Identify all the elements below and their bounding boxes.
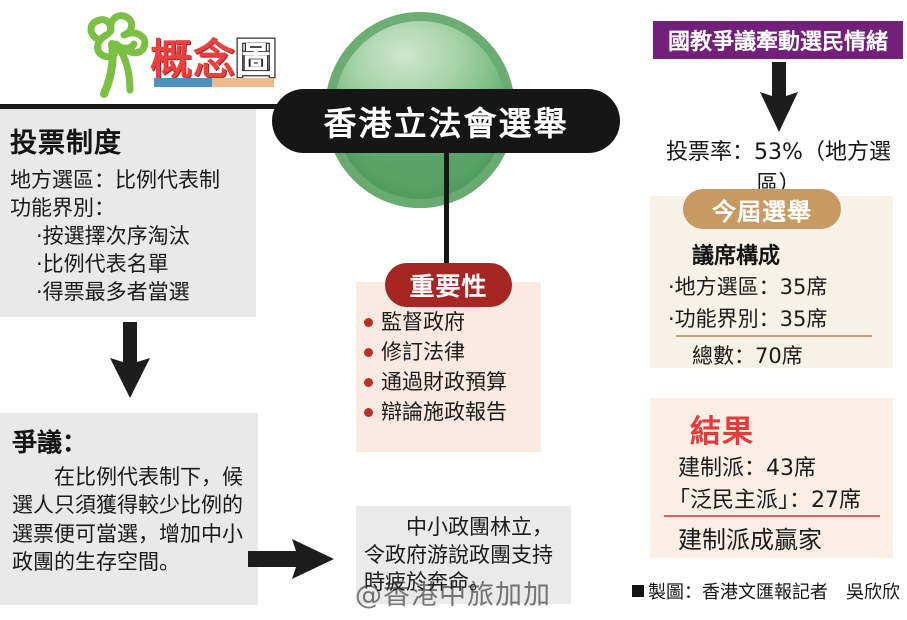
importance-item: 通過財政預算 (364, 372, 544, 393)
bullet-dot-icon (364, 408, 373, 417)
credit-line: 製圖：香港文匯報記者 吳欣欣 (632, 578, 907, 604)
importance-item-label: 監督政府 (381, 312, 465, 333)
voting-system-subitem-3: ·得票最多者當選 (10, 279, 246, 307)
voting-system-subitem-1: ·按選擇次序淘汰 (10, 223, 246, 251)
logo-bar-orange (212, 78, 274, 87)
importance-badge: 重要性 (385, 263, 512, 307)
logo-text-chart: 圖 (235, 25, 277, 86)
dispute-body: 在比例代表制下，候選人只須獲得較少比例的選票便可當選，增加中小政團的生存空間。 (12, 463, 248, 576)
bullet-dot-icon (364, 318, 373, 327)
infographic-canvas: 概念 圖 香港立法會選舉 投票制度 地方選區：比例代表制 功能界別： ·按選擇次… (0, 0, 907, 620)
watermark-text: @香港中旅加加 (355, 573, 615, 612)
result-conclusion: 建制派成贏家 (678, 520, 822, 555)
connector-title-to-importance (444, 153, 449, 265)
publication-logo: 概念 圖 (78, 8, 278, 100)
result-line-pandemocrat: 「泛民主派」：27席 (668, 482, 861, 514)
dispute-title: 爭議： (12, 423, 248, 459)
square-bullet-icon (632, 585, 644, 597)
arrow-right-icon (248, 537, 334, 581)
importance-badge-label: 重要性 (409, 267, 487, 303)
clover-leaf-icon (78, 10, 158, 98)
seat-line-geographical: ·地方選區：35席 (668, 271, 827, 301)
seat-total-line: 總數：70席 (692, 340, 803, 370)
election-badge-label: 今屆選舉 (712, 192, 812, 227)
voting-system-line-1: 地方選區：比例代表制 (10, 167, 246, 195)
dispute-box: 爭議： 在比例代表制下，候選人只須獲得較少比例的選票便可當選，增加中小政團的生存… (0, 413, 258, 605)
importance-item: 修訂法律 (364, 342, 544, 363)
voting-system-box: 投票制度 地方選區：比例代表制 功能界別： ·按選擇次序淘汰 ·比例代表名單 ·… (0, 109, 256, 317)
logo-bar-blue (154, 78, 212, 87)
election-badge: 今屆選舉 (683, 189, 841, 229)
bullet-dot-icon (364, 348, 373, 357)
seat-line-functional: ·功能界別：35席 (668, 303, 827, 333)
voting-system-title: 投票制度 (10, 121, 246, 160)
importance-item-label: 通過財政預算 (381, 372, 507, 393)
importance-item: 辯論施政報告 (364, 402, 544, 423)
bullet-dot-icon (364, 378, 373, 387)
credit-text: 製圖：香港文匯報記者 吳欣欣 (648, 578, 900, 604)
importance-item-label: 辯論施政報告 (381, 402, 507, 423)
seats-composition-title: 議席構成 (692, 238, 780, 270)
main-title-text: 香港立法會選舉 (324, 97, 569, 145)
voting-system-line-2: 功能界別： (10, 195, 246, 223)
importance-list: 監督政府 修訂法律 通過財政預算 辯論施政報告 (364, 312, 544, 432)
sentiment-banner: 國教爭議牽動選民情緒 (653, 21, 903, 59)
arrow-down-icon-left (108, 322, 152, 398)
seats-divider (676, 335, 872, 337)
voting-system-subitem-2: ·比例代表名單 (10, 251, 246, 279)
sentiment-banner-label: 國教爭議牽動選民情緒 (668, 24, 888, 56)
main-title-pill: 香港立法會選舉 (272, 89, 620, 153)
importance-item: 監督政府 (364, 312, 544, 333)
importance-item-label: 修訂法律 (381, 342, 465, 363)
result-divider (664, 515, 880, 517)
arrow-down-icon-right (758, 62, 800, 132)
result-line-proestablishment: 建制派：43席 (678, 450, 816, 482)
result-title: 結果 (690, 406, 754, 451)
